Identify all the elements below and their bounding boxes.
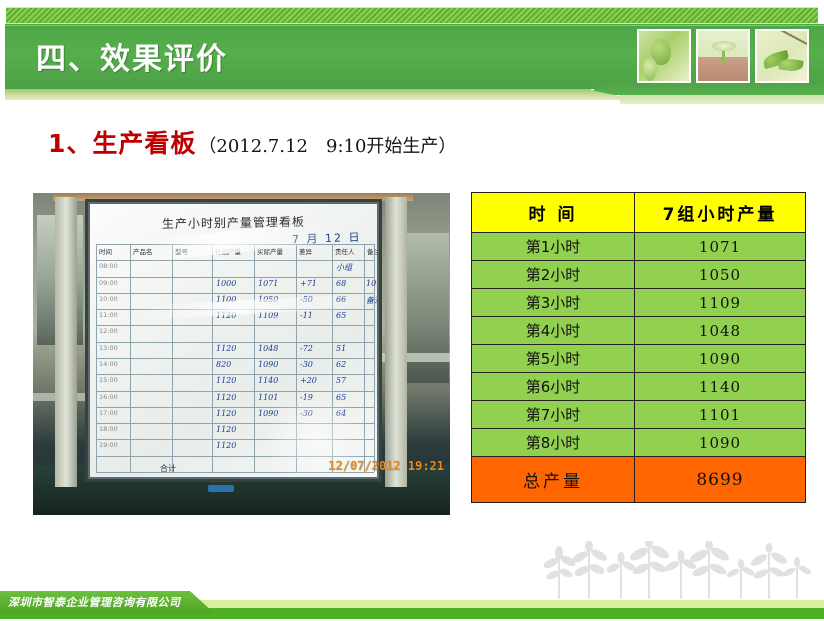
whiteboard-cell: 64 xyxy=(336,409,346,418)
whiteboard-cell: -50 xyxy=(300,295,313,304)
whiteboard-cell: 1050 xyxy=(258,295,278,304)
whiteboard-cell: 1120 xyxy=(216,311,236,320)
whiteboard-column-header: 产品名 xyxy=(133,246,153,256)
column-header-output: 7组小时产量 xyxy=(635,193,806,233)
production-board-photo: 生产小时别产量管理看板 7 月 12 日 时间产品名型号计划产量实际产量差异责任… xyxy=(33,193,450,515)
whiteboard-cell: 08:00 xyxy=(99,262,118,270)
cell-time: 第3小时 xyxy=(472,289,635,317)
cell-output: 1140 xyxy=(635,373,806,401)
cell-output: 1109 xyxy=(635,289,806,317)
whiteboard-cell: 09:00 xyxy=(99,279,118,287)
whiteboard-cell: 15:00 xyxy=(99,376,118,384)
hourly-output-table: 时 间 7组小时产量 第1小时1071第2小时1050第3小时1109第4小时1… xyxy=(471,192,806,503)
whiteboard-cell: 1120 xyxy=(216,409,236,418)
whiteboard-cell: 1120 xyxy=(216,441,236,450)
table-row: 第4小时1048 xyxy=(472,317,806,345)
cell-time: 第1小时 xyxy=(472,233,635,261)
footer-company-name: 深圳市智泰企业管理咨询有限公司 xyxy=(8,594,181,610)
whiteboard-cell: 1071 xyxy=(258,279,278,288)
photo-timestamp: 12/07/2012 19:21 xyxy=(328,459,444,473)
whiteboard-cell: 66 xyxy=(336,295,346,304)
cell-output: 1101 xyxy=(635,401,806,429)
whiteboard-cell: 820 xyxy=(216,360,231,369)
cell-time: 第6小时 xyxy=(472,373,635,401)
whiteboard-cell: -19 xyxy=(300,393,313,402)
whiteboard-grid-line xyxy=(96,244,97,472)
whiteboard-cell: 65 xyxy=(336,311,346,320)
header-underline-band-right xyxy=(620,95,824,104)
table-row: 第1小时1071 xyxy=(472,233,806,261)
whiteboard-cell: 12:00 xyxy=(99,327,118,335)
table-total-row: 总产量8699 xyxy=(472,457,806,503)
whiteboard-cell: 19:00 xyxy=(99,441,118,449)
whiteboard-column-header: 型号 xyxy=(175,246,188,256)
whiteboard-cell: 1090 xyxy=(258,360,278,369)
whiteboard-cell: 备注 xyxy=(366,295,379,306)
whiteboard-cell: 17:00 xyxy=(99,409,118,417)
whiteboard-cell: -30 xyxy=(300,360,313,369)
cell-output: 1050 xyxy=(635,261,806,289)
whiteboard-cell: 1048 xyxy=(258,344,278,353)
photo-whiteboard: 生产小时别产量管理看板 7 月 12 日 时间产品名型号计划产量实际产量差异责任… xyxy=(88,202,379,479)
green-bud-photo-icon xyxy=(637,29,691,83)
cell-total-value: 8699 xyxy=(635,457,806,503)
header-thumbnail-group xyxy=(637,29,809,83)
whiteboard-cell: 18:00 xyxy=(99,425,118,433)
whiteboard-cell: -11 xyxy=(300,311,313,320)
photo-stand-right xyxy=(385,197,407,487)
whiteboard-cell: 10:30 xyxy=(366,279,379,288)
header-highlight-line xyxy=(5,25,824,26)
whiteboard-cell: 68 xyxy=(336,279,346,288)
whiteboard-column-header: 计划产量 xyxy=(215,246,241,256)
whiteboard-cell: 1100 xyxy=(216,295,236,304)
whiteboard-grid-line xyxy=(172,244,173,472)
cell-output: 1071 xyxy=(635,233,806,261)
whiteboard-grid-line xyxy=(212,244,213,472)
whiteboard-grid-line xyxy=(130,244,131,472)
subtitle-note: （2012.7.12 9:10开始生产） xyxy=(198,132,456,158)
whiteboard-cell: 1120 xyxy=(216,344,236,353)
subtitle-index: 1、生产看板 xyxy=(48,124,196,160)
whiteboard-cell: +71 xyxy=(300,279,317,288)
header-stripe-band xyxy=(6,7,818,24)
whiteboard-grid-line xyxy=(296,244,297,472)
table-row: 第7小时1101 xyxy=(472,401,806,429)
photo-marker-pen xyxy=(208,485,234,492)
whiteboard-column-header: 责任人 xyxy=(335,246,355,256)
whiteboard-grid-line xyxy=(332,244,333,472)
whiteboard-cell: -72 xyxy=(300,344,313,353)
table-row: 第6小时1140 xyxy=(472,373,806,401)
whiteboard-cell: 14:00 xyxy=(99,360,118,368)
whiteboard-total-label: 合计 xyxy=(160,463,176,474)
page-title: 四、效果评价 xyxy=(36,34,228,78)
whiteboard-cell: 11:00 xyxy=(99,311,118,319)
whiteboard-cell: 1120 xyxy=(216,376,236,385)
cell-time: 第5小时 xyxy=(472,345,635,373)
header-green-step xyxy=(586,83,824,95)
whiteboard-column-header: 实际产量 xyxy=(257,246,283,256)
branch-icon xyxy=(777,29,808,45)
whiteboard-cell: 57 xyxy=(336,376,346,385)
header-underline-band-left xyxy=(5,89,591,100)
cell-time: 第8小时 xyxy=(472,429,635,457)
whiteboard-cell: 51 xyxy=(336,344,346,353)
whiteboard-cell: 62 xyxy=(336,360,346,369)
whiteboard-cell: 1101 xyxy=(258,393,278,402)
whiteboard-grid-line xyxy=(254,244,255,472)
whiteboard-cell: 1000 xyxy=(216,279,236,288)
whiteboard-column-header: 时间 xyxy=(99,246,112,256)
cell-time: 第4小时 xyxy=(472,317,635,345)
cell-output: 1090 xyxy=(635,345,806,373)
whiteboard-cell: 16:00 xyxy=(99,393,118,401)
whiteboard-cell: 小组 xyxy=(336,262,352,273)
slide-footer: 深圳市智泰企业管理咨询有限公司 xyxy=(0,543,824,621)
section-subtitle: 1、生产看板 （2012.7.12 9:10开始生产） xyxy=(48,124,456,160)
table-row: 第2小时1050 xyxy=(472,261,806,289)
whiteboard-cell: 1120 xyxy=(216,393,236,402)
column-header-time: 时 间 xyxy=(472,193,635,233)
whiteboard-cell: 1109 xyxy=(258,311,278,320)
seedling-in-soil-photo-icon xyxy=(696,29,750,83)
cell-total-label: 总产量 xyxy=(472,457,635,503)
whiteboard-cell: 1090 xyxy=(258,409,278,418)
whiteboard-cell: 65 xyxy=(336,393,346,402)
table-row: 第3小时1109 xyxy=(472,289,806,317)
whiteboard-cell: 1120 xyxy=(216,425,236,434)
cell-time: 第2小时 xyxy=(472,261,635,289)
cell-output: 1048 xyxy=(635,317,806,345)
table-row: 第8小时1090 xyxy=(472,429,806,457)
green-leaves-branch-photo-icon xyxy=(755,29,809,83)
whiteboard-cell: 10:00 xyxy=(99,295,118,303)
table-header-row: 时 间 7组小时产量 xyxy=(472,193,806,233)
whiteboard-column-header: 备注 xyxy=(367,246,379,256)
table-row: 第5小时1090 xyxy=(472,345,806,373)
whiteboard-grid: 时间产品名型号计划产量实际产量差异责任人备注08:00小组09:00100010… xyxy=(96,244,374,472)
slide-header: 四、效果评价 xyxy=(0,0,824,112)
whiteboard-grid-line xyxy=(364,244,365,472)
whiteboard-column-header: 差异 xyxy=(299,246,312,256)
sprouts-decoration-icon xyxy=(544,541,814,599)
cell-output: 1090 xyxy=(635,429,806,457)
whiteboard-cell: +20 xyxy=(300,376,317,385)
whiteboard-cell: -30 xyxy=(300,409,313,418)
whiteboard-cell: 1140 xyxy=(258,376,278,385)
photo-stand-left xyxy=(55,197,77,487)
whiteboard-cell: 13:00 xyxy=(99,344,118,352)
cell-time: 第7小时 xyxy=(472,401,635,429)
